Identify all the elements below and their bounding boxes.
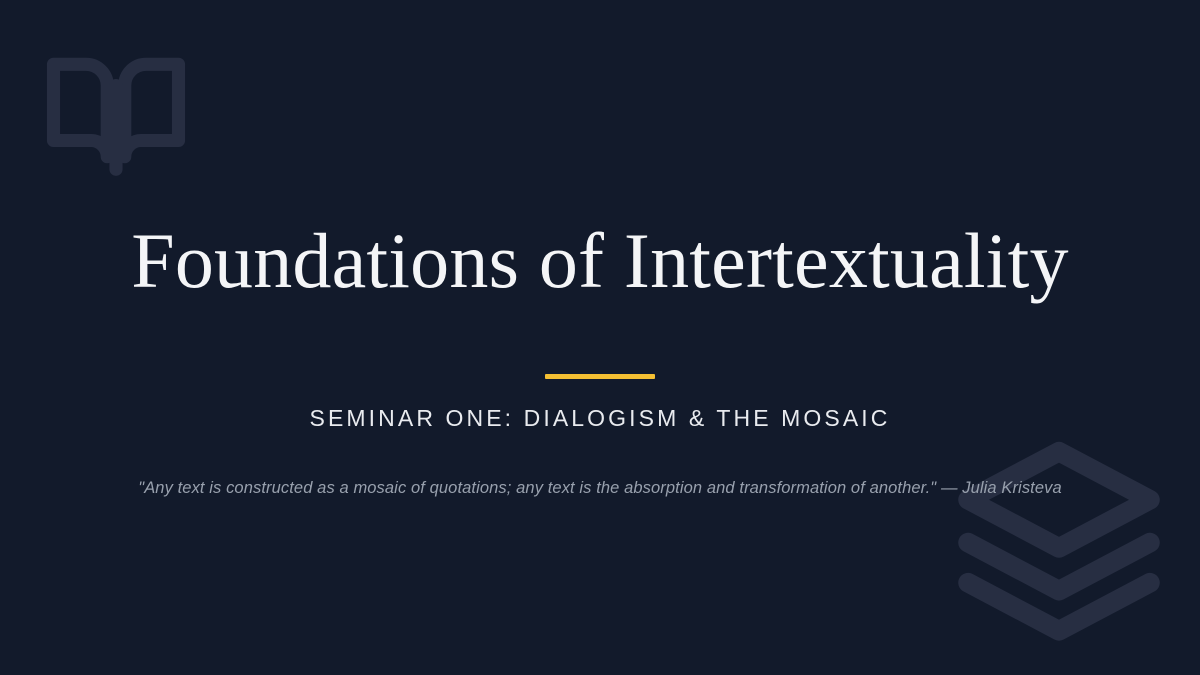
epigraph-quote: "Any text is constructed as a mosaic of … — [138, 479, 1062, 498]
slide-content: Foundations of Intertextuality SEMINAR O… — [0, 0, 1200, 675]
page-title: Foundations of Intertextuality — [131, 222, 1069, 300]
accent-rule — [545, 374, 655, 379]
slide-subtitle: SEMINAR ONE: DIALOGISM & THE MOSAIC — [310, 405, 891, 432]
presentation-slide: Foundations of Intertextuality SEMINAR O… — [0, 0, 1200, 675]
